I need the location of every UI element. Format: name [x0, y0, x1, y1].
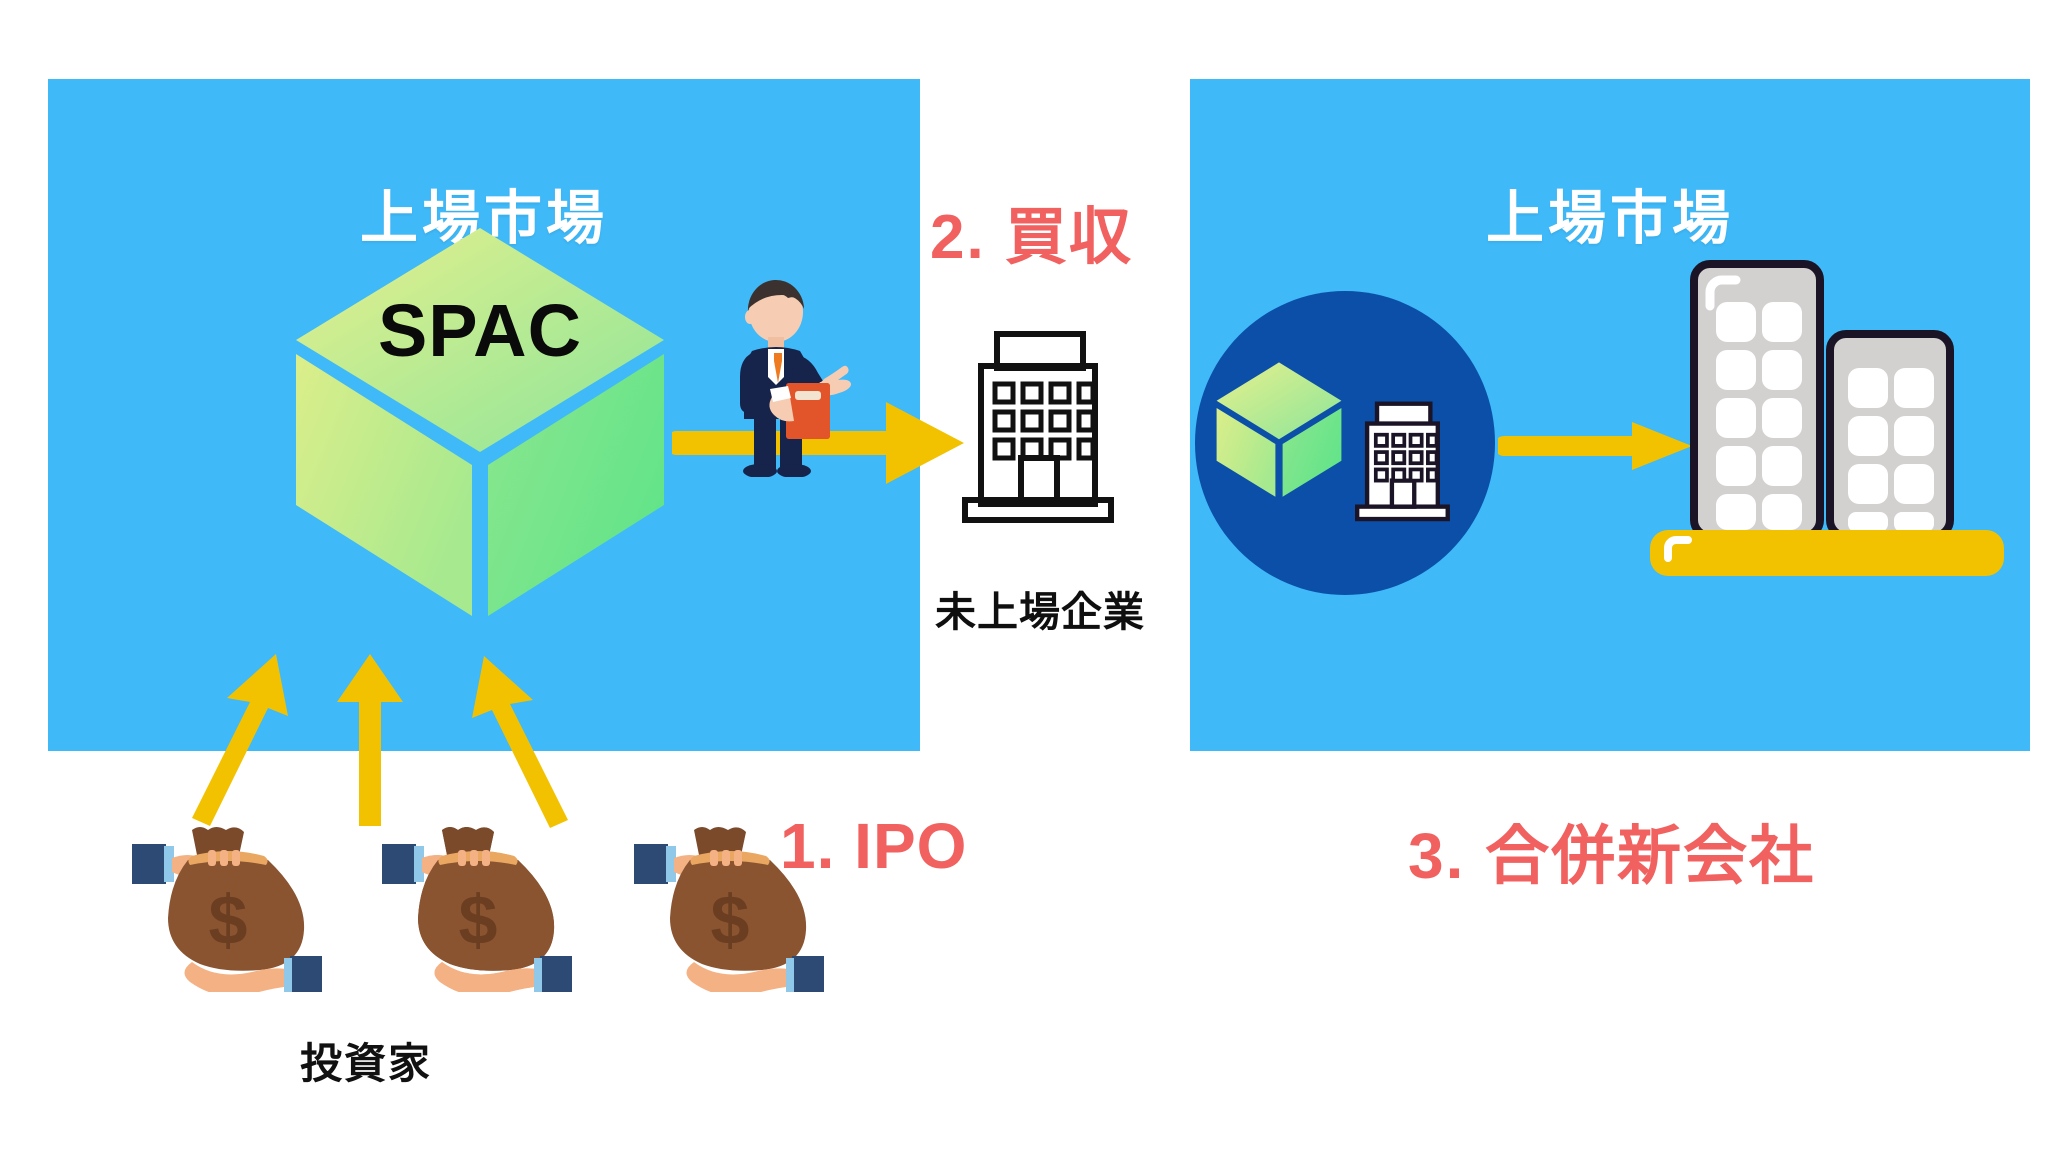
money-bag-icon: $: [378, 822, 578, 992]
svg-text:$: $: [209, 881, 248, 959]
step-3-label: 3. 合併新会社: [1408, 805, 1815, 897]
businessman-pointing-icon: [712, 279, 864, 477]
merged-company-badge-icon: [1195, 288, 1495, 598]
spac-cube-icon: [290, 222, 670, 622]
panel-right-title: 上場市場: [1190, 171, 2030, 255]
svg-text:$: $: [459, 881, 498, 959]
investors-label: 投資家: [300, 1030, 560, 1091]
investment-up-arrows-icon: [170, 650, 590, 830]
svg-text:$: $: [711, 881, 750, 959]
office-building-icon: [955, 328, 1121, 526]
step-2-label: 2. 買収: [930, 186, 1133, 276]
diagram-canvas: 上場市場 SPAC: [0, 0, 2048, 1152]
money-bag-icon: $: [128, 822, 328, 992]
step-1-label: 1. IPO: [780, 809, 967, 883]
private-company-label: 未上場企業: [905, 578, 1175, 638]
twin-skyscrapers-icon: [1644, 258, 2014, 598]
